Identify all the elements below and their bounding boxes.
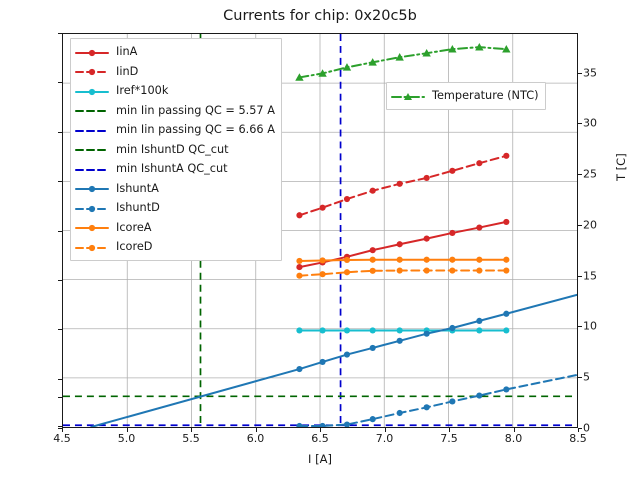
y-tick-mark-right <box>578 73 582 74</box>
legend-item-temperature-ntc[interactable]: Temperature (NTC) <box>391 86 539 106</box>
y-tick-mark-right <box>578 326 582 327</box>
x-tick-label: 6.0 <box>247 432 265 445</box>
legend-swatch <box>75 240 109 254</box>
x-tick-mark <box>578 428 579 432</box>
x-tick-mark <box>320 428 321 432</box>
y-tick-mark-right <box>578 123 582 124</box>
series-temperature-ntc <box>295 43 510 81</box>
y-tick-mark-right <box>578 276 582 277</box>
chart-title: Currents for chip: 0x20c5b <box>0 8 640 24</box>
legend-label: min Iin passing QC = 5.57 A <box>116 104 275 117</box>
x-tick-label: 4.5 <box>53 432 71 445</box>
legend-swatch <box>75 45 109 59</box>
figure: Currents for chip: 0x20c5b I [A] T [C] I… <box>0 0 640 480</box>
legend-primary: IinAIinDIref*100kmin Iin passing QC = 5.… <box>70 38 282 261</box>
legend-label: min IshuntD QC_cut <box>116 143 229 156</box>
legend-key-min-ishuntd-qc-cut <box>75 143 109 157</box>
legend-label: IshuntD <box>116 201 160 214</box>
y-tick-label-right: 25 <box>583 168 597 181</box>
legend-label: IinA <box>116 45 137 58</box>
legend-item-iina[interactable]: IinA <box>75 42 275 62</box>
legend-item-iref-100k[interactable]: Iref*100k <box>75 81 275 101</box>
x-axis-label: I [A] <box>0 452 640 466</box>
y-tick-mark-right <box>578 377 582 378</box>
legend-label: min IshuntA QC_cut <box>116 162 228 175</box>
legend-swatch <box>75 103 109 117</box>
legend-key-min-ishunta-qc-cut <box>75 163 109 177</box>
x-tick-mark <box>256 428 257 432</box>
legend-key-iind <box>75 65 109 79</box>
series-iina <box>296 219 509 270</box>
legend-label: IshuntA <box>116 182 159 195</box>
x-tick-mark <box>514 428 515 432</box>
legend-item-iind[interactable]: IinD <box>75 62 275 82</box>
legend-item-min-iin-passing-qc-6-66-a[interactable]: min Iin passing QC = 6.66 A <box>75 120 275 140</box>
legend-item-min-ishunta-qc-cut[interactable]: min IshuntA QC_cut <box>75 159 275 179</box>
legend-swatch <box>75 123 109 137</box>
legend-label: IcoreD <box>116 240 153 253</box>
series-icored <box>296 267 509 278</box>
x-tick-mark <box>191 428 192 432</box>
y-tick-label-right: 35 <box>583 66 597 79</box>
y-tick-mark-right <box>578 225 582 226</box>
legend-key-ishunta <box>75 182 109 196</box>
legend-temperature: Temperature (NTC) <box>386 82 546 110</box>
legend-swatch <box>75 181 109 195</box>
legend-swatch <box>75 201 109 215</box>
legend-swatch <box>75 220 109 234</box>
legend-swatch <box>75 142 109 156</box>
x-tick-mark <box>385 428 386 432</box>
x-tick-label: 7.0 <box>376 432 394 445</box>
series-iref-100k <box>296 327 509 333</box>
x-tick-label: 7.5 <box>440 432 458 445</box>
legend-key-temperature-ntc <box>391 90 425 104</box>
legend-swatch <box>75 162 109 176</box>
y-tick-label-right: 15 <box>583 269 597 282</box>
series-iind <box>296 153 509 219</box>
legend-label: IinD <box>116 65 138 78</box>
x-tick-label: 6.5 <box>311 432 329 445</box>
series-icorea <box>296 257 509 264</box>
series-ishunta <box>91 295 577 427</box>
x-tick-mark <box>127 428 128 432</box>
legend-label: IcoreA <box>116 221 152 234</box>
x-tick-mark <box>62 428 63 432</box>
legend-key-iina <box>75 46 109 60</box>
legend-item-icorea[interactable]: IcoreA <box>75 218 275 238</box>
legend-item-min-iin-passing-qc-5-57-a[interactable]: min Iin passing QC = 5.57 A <box>75 101 275 121</box>
legend-label: Temperature (NTC) <box>432 89 539 102</box>
legend-swatch <box>391 89 425 103</box>
y-tick-label-right: 10 <box>583 320 597 333</box>
x-tick-label: 5.5 <box>182 432 200 445</box>
legend-item-ishunta[interactable]: IshuntA <box>75 179 275 199</box>
y-tick-label-right: 20 <box>583 218 597 231</box>
series-ishuntd <box>296 375 577 427</box>
legend-label: Iref*100k <box>116 84 168 97</box>
legend-key-min-iin-passing-qc-6-66-a <box>75 124 109 138</box>
legend-key-ishuntd <box>75 202 109 216</box>
legend-item-min-ishuntd-qc-cut[interactable]: min IshuntD QC_cut <box>75 140 275 160</box>
legend-label: min Iin passing QC = 6.66 A <box>116 123 275 136</box>
y-tick-label-right: 5 <box>583 371 590 384</box>
legend-swatch <box>75 84 109 98</box>
legend-item-icored[interactable]: IcoreD <box>75 237 275 257</box>
x-tick-mark <box>449 428 450 432</box>
legend-item-ishuntd[interactable]: IshuntD <box>75 198 275 218</box>
x-tick-label: 8.5 <box>569 432 587 445</box>
y-axis-label-right: T [C] <box>614 153 628 181</box>
legend-key-icored <box>75 241 109 255</box>
y-tick-label-right: 30 <box>583 117 597 130</box>
x-tick-label: 5.0 <box>118 432 136 445</box>
y-tick-mark-right <box>578 174 582 175</box>
legend-key-min-iin-passing-qc-5-57-a <box>75 104 109 118</box>
legend-swatch <box>75 64 109 78</box>
legend-key-icorea <box>75 221 109 235</box>
legend-key-iref-100k <box>75 85 109 99</box>
x-tick-label: 8.0 <box>505 432 523 445</box>
